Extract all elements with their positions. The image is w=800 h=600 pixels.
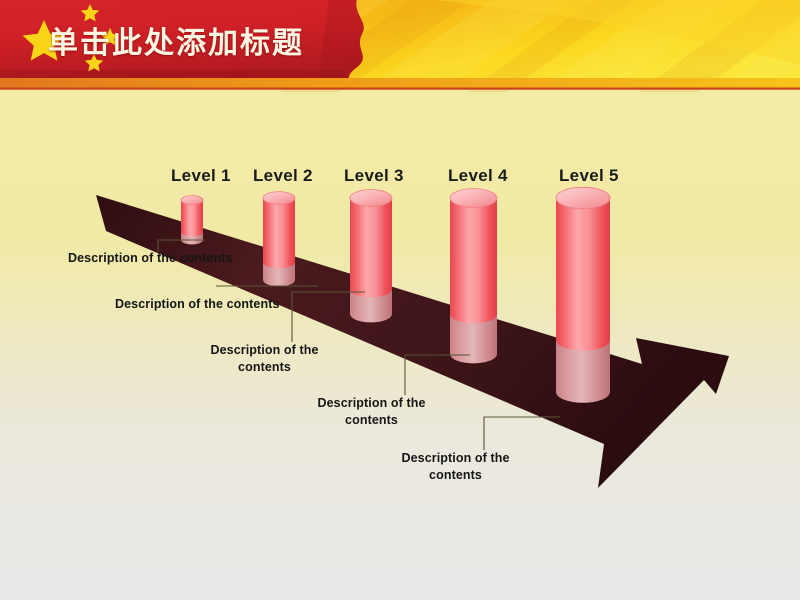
slide-canvas: 单击此处添加标题 [0,0,800,600]
cylinder-body-1 [181,200,203,236]
description-line-1: Description of the contents [115,297,280,311]
description-label-2: Description of the contents [115,296,325,313]
description-label-4: Description of thecontents [303,395,440,428]
description-label-1: Description of the contents [68,250,268,267]
level-label-5: Level 5 [559,166,619,186]
cylinder-cap-2 [263,192,295,205]
cylinder-5 [556,187,610,403]
cylinder-body-4 [450,198,497,323]
description-line-2: contents [238,360,291,374]
description-line-2: contents [345,413,398,427]
level-label-1: Level 1 [171,166,231,186]
cylinder-4 [450,189,497,364]
level-label-4: Level 4 [448,166,508,186]
cylinder-cap-4 [450,189,497,208]
header-orange-bar [0,78,800,88]
description-line-2: contents [429,468,482,482]
cylinder-cap-5 [556,187,610,209]
description-label-3: Description of thecontents [197,342,332,375]
cylinder-cap-1 [181,196,203,205]
cylinder-2 [263,192,295,287]
cylinder-3 [350,190,392,323]
level-label-3: Level 3 [344,166,404,186]
description-label-5: Description of thecontents [388,450,523,483]
diagram-area: Level 1Level 2Level 3Level 4Level 5 Desc… [0,92,800,600]
slide-header: 单击此处添加标题 [0,0,800,92]
cylinder-cap-3 [350,190,392,207]
description-line-1: Description of the contents [68,251,233,265]
description-line-1: Description of the [317,396,425,410]
cylinder-body-3 [350,198,392,297]
leader-line-5 [484,417,560,450]
cylinder-body-5 [556,198,610,351]
description-line-1: Description of the [210,343,318,357]
header-divider-rule [0,88,800,90]
cylinder-1 [181,196,203,245]
level-label-2: Level 2 [253,166,313,186]
description-line-1: Description of the [401,451,509,465]
slide-title: 单击此处添加标题 [48,18,304,62]
